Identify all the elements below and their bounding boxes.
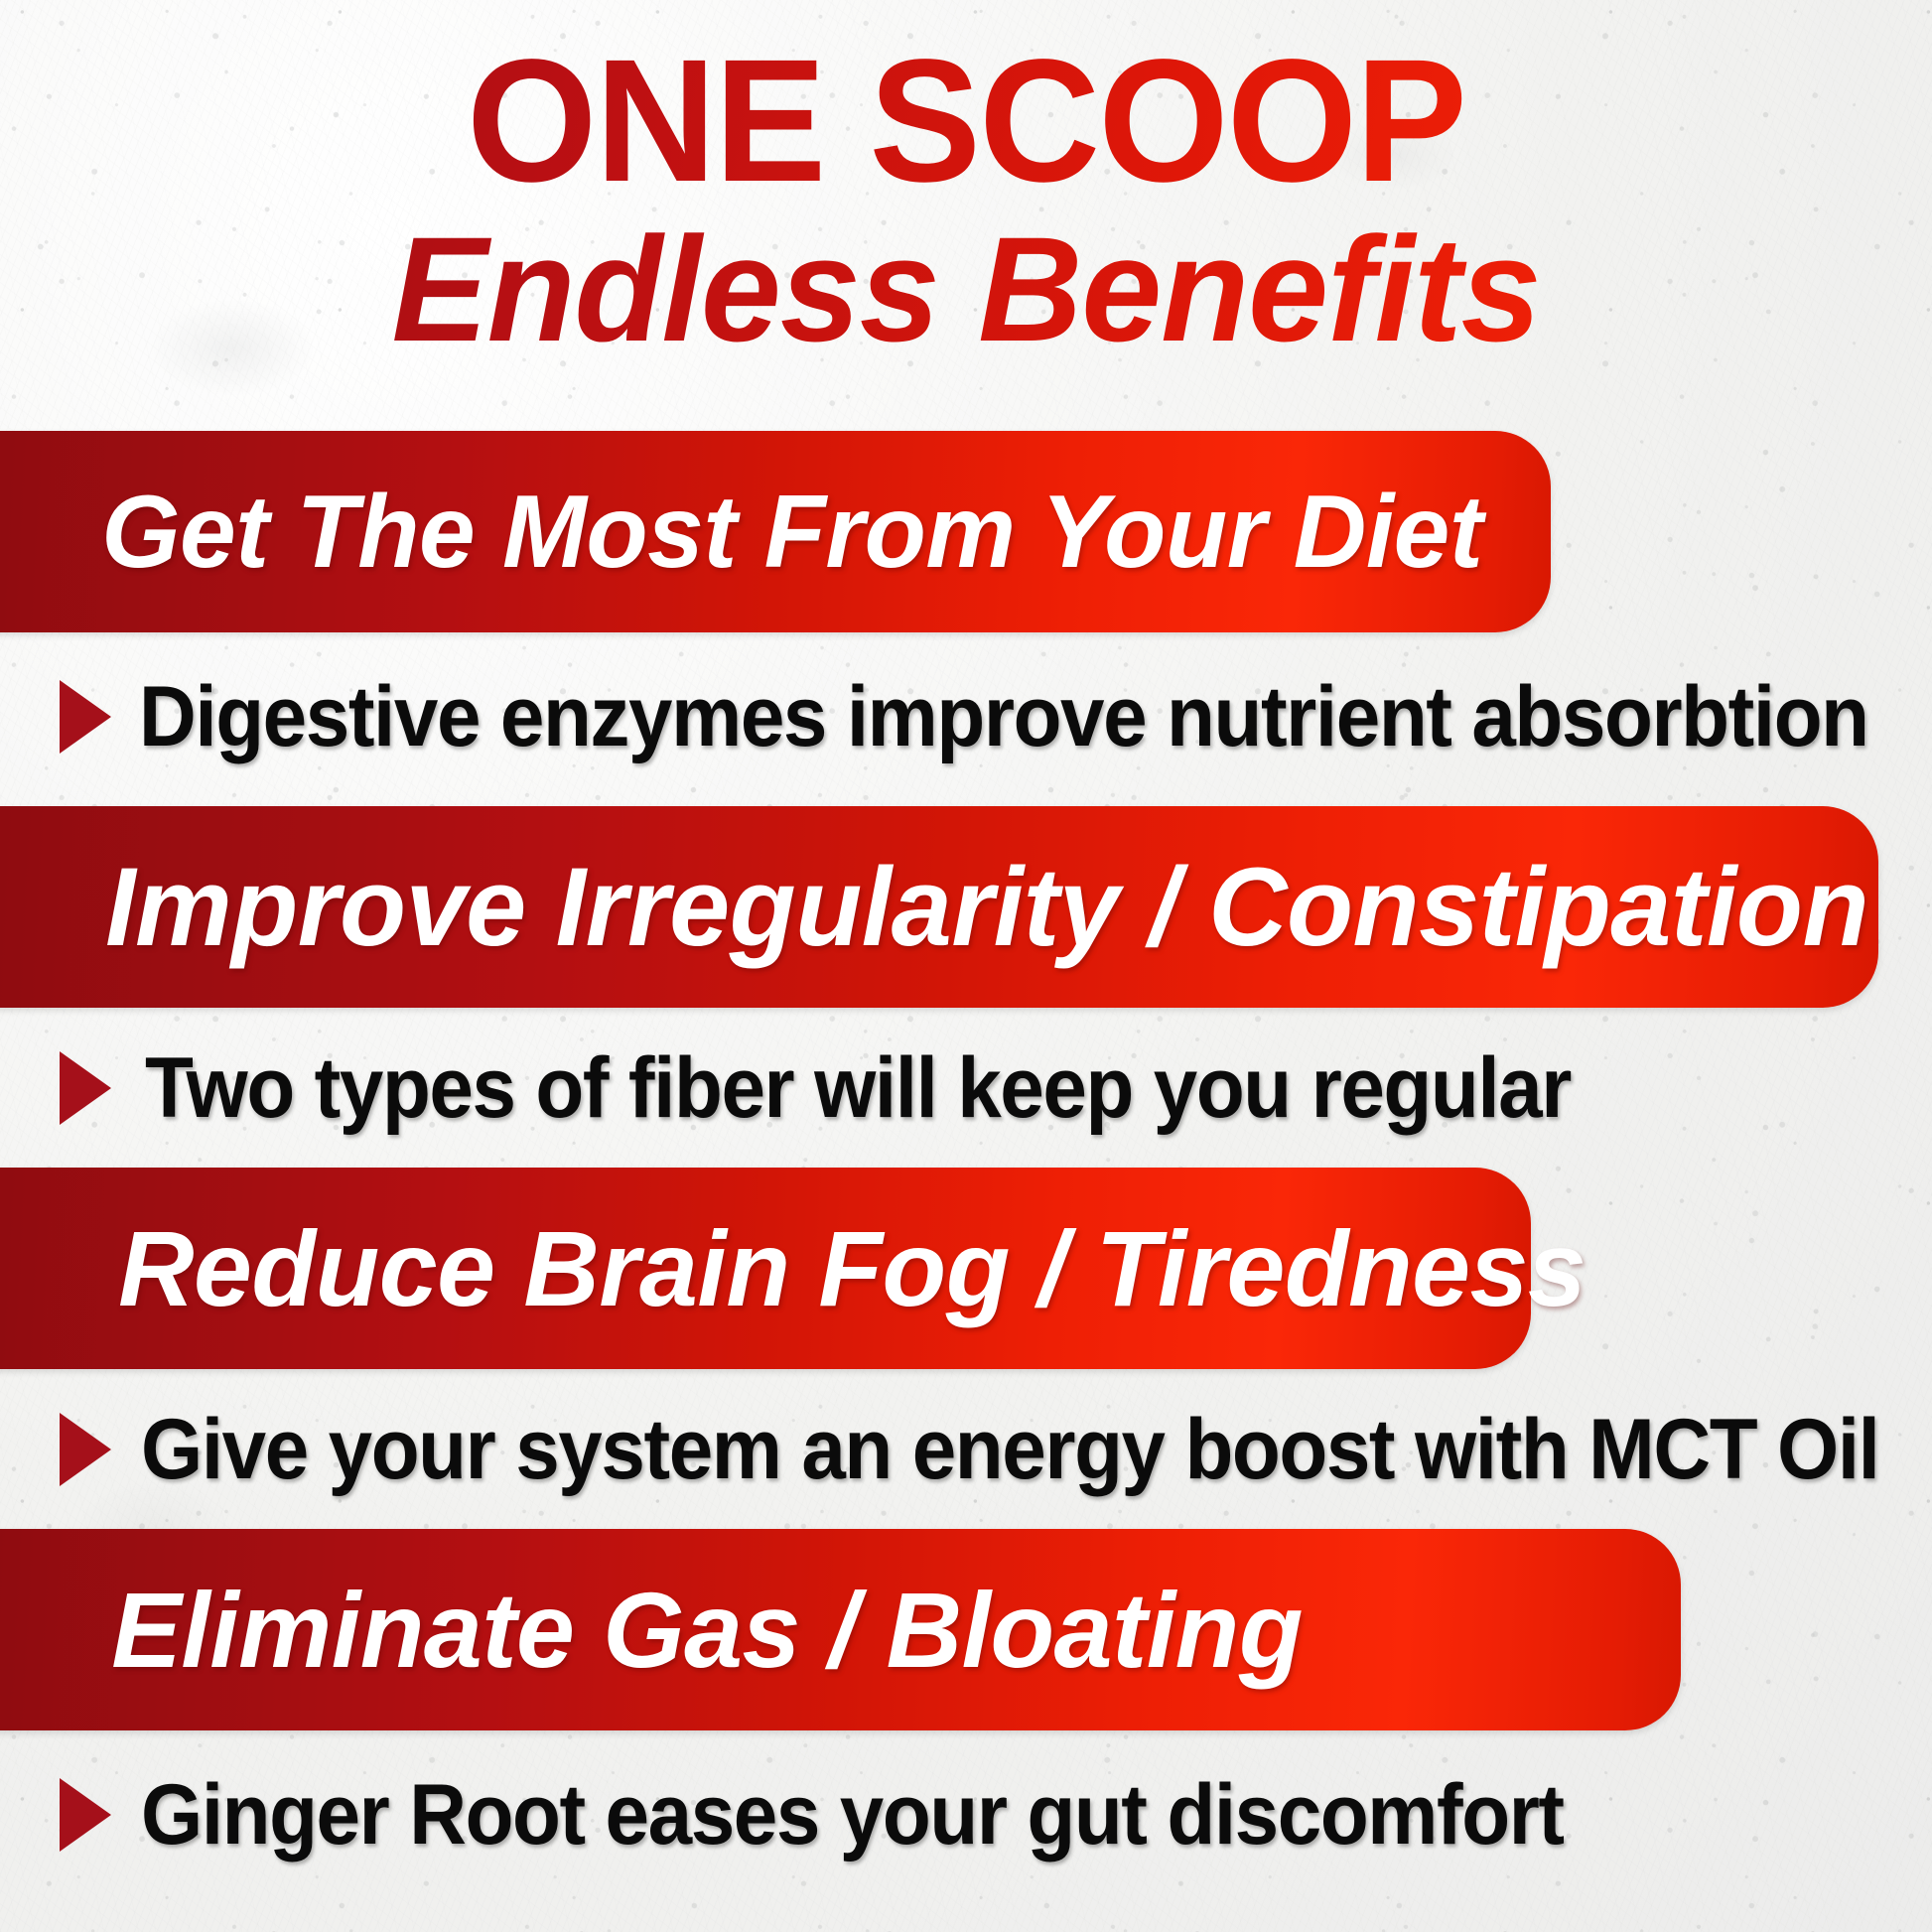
benefit-bullet-label: Give your system an energy boost with MC… — [141, 1407, 1878, 1492]
triangle-right-icon — [60, 1778, 111, 1852]
benefit-bullet-label: Digestive enzymes improve nutrient absor… — [139, 674, 1868, 759]
triangle-right-icon — [60, 1051, 111, 1125]
benefit-banner-label: Improve Irregularity / Constipation — [105, 852, 1868, 963]
benefit-banner-4: Eliminate Gas / Bloating — [0, 1529, 1681, 1730]
benefit-bullet-label: Ginger Root eases your gut discomfort — [141, 1772, 1564, 1858]
headline-block: ONE SCOOP Endless Benefits — [0, 34, 1932, 363]
benefit-bullet-row-2: Two types of fiber will keep you regular — [0, 1029, 1932, 1148]
benefit-banner-2: Improve Irregularity / Constipation — [0, 806, 1878, 1008]
triangle-right-icon — [60, 680, 111, 754]
benefit-bullet-row-1: Digestive enzymes improve nutrient absor… — [0, 657, 1932, 776]
headline-secondary: Endless Benefits — [29, 214, 1903, 363]
benefit-bullet-row-3: Give your system an energy boost with MC… — [0, 1390, 1932, 1509]
headline-primary: ONE SCOOP — [39, 34, 1893, 208]
benefit-banner-3: Reduce Brain Fog / Tiredness — [0, 1168, 1531, 1369]
benefit-banner-label: Eliminate Gas / Bloating — [111, 1577, 1303, 1684]
benefit-banner-1: Get The Most From Your Diet — [0, 431, 1551, 632]
triangle-right-icon — [60, 1413, 111, 1486]
benefit-bullet-row-4: Ginger Root eases your gut discomfort — [0, 1755, 1932, 1874]
benefit-banner-label: Get The Most From Your Diet — [101, 481, 1482, 584]
benefit-bullet-label: Two types of fiber will keep you regular — [145, 1045, 1571, 1131]
benefits-poster: ONE SCOOP Endless Benefits Get The Most … — [0, 0, 1932, 1932]
benefit-banner-label: Reduce Brain Fog / Tiredness — [118, 1215, 1586, 1322]
